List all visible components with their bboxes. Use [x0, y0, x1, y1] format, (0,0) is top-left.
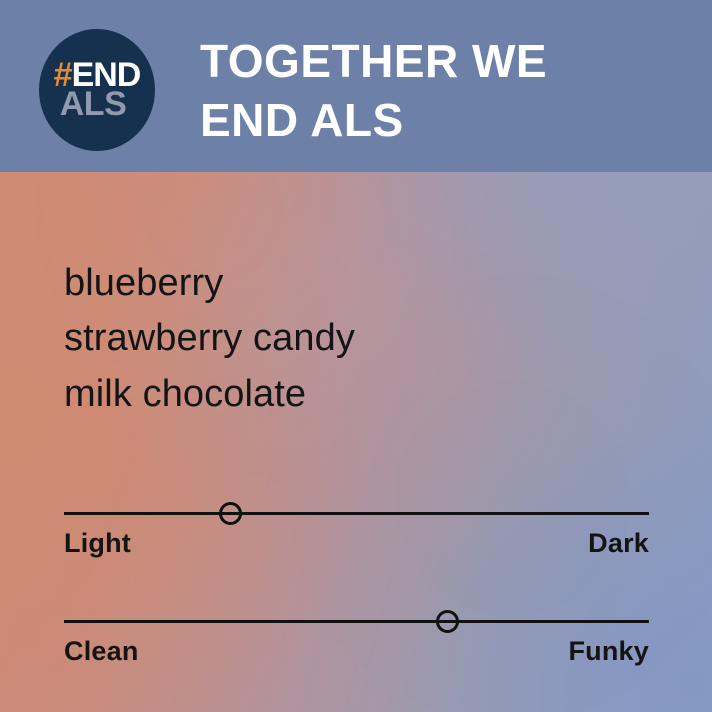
slider-roast-label-right: Dark — [588, 528, 649, 559]
flavor-note: milk chocolate — [64, 367, 624, 422]
slider-profile-label-right: Funky — [568, 636, 649, 667]
slider-profile: Clean Funky — [64, 602, 649, 667]
slider-profile-knob[interactable] — [436, 610, 459, 633]
logo-als-text: ALS — [60, 91, 127, 119]
slider-roast-track-wrap[interactable] — [64, 494, 649, 532]
slider-profile-track[interactable] — [64, 620, 649, 623]
slider-profile-track-wrap[interactable] — [64, 602, 649, 640]
header-banner: #END ALS TOGETHER WE END ALS — [0, 0, 712, 172]
flavor-note: strawberry candy — [64, 311, 624, 366]
slider-profile-label-left: Clean — [64, 636, 139, 667]
header-title-line-1: TOGETHER WE — [200, 32, 670, 91]
header-title: TOGETHER WE END ALS — [200, 32, 670, 150]
slider-roast-label-left: Light — [64, 528, 131, 559]
slider-roast-track[interactable] — [64, 512, 649, 515]
slider-roast-labels: Light Dark — [64, 528, 649, 559]
flavor-notes-list: blueberry strawberry candy milk chocolat… — [64, 256, 624, 422]
end-als-logo: #END ALS — [39, 29, 155, 151]
slider-profile-labels: Clean Funky — [64, 636, 649, 667]
header-title-line-2: END ALS — [200, 91, 670, 150]
slider-roast-knob[interactable] — [219, 502, 242, 525]
slider-group: Light Dark Clean Funky — [64, 494, 649, 667]
flavor-note: blueberry — [64, 256, 624, 311]
label-canvas: #END ALS TOGETHER WE END ALS blueberry s… — [0, 0, 712, 712]
slider-roast: Light Dark — [64, 494, 649, 559]
